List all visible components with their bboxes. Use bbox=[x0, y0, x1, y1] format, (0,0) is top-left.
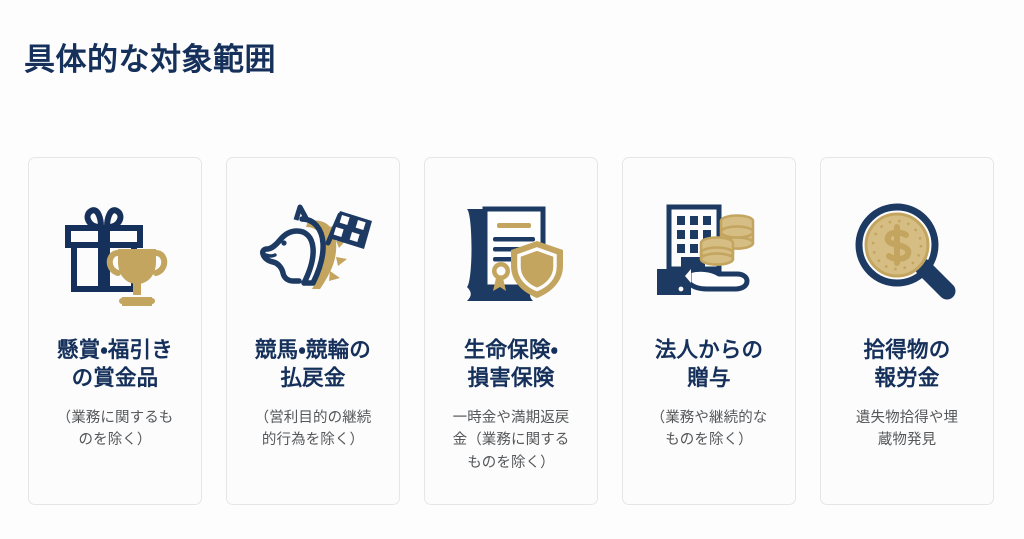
card-title: 競馬・競輪の 払戻金 bbox=[255, 336, 371, 393]
card-title: 拾得物の 報労金 bbox=[864, 336, 951, 393]
certificate-shield-icon bbox=[451, 190, 571, 316]
magnifier-coin-icon bbox=[847, 190, 967, 316]
card-subtitle: （業務や継続的な ものを除く） bbox=[651, 407, 768, 452]
gift-trophy-icon bbox=[55, 190, 175, 316]
card-insurance[interactable]: 生命保険・ 損害保険 一時金や満期返戻 金（業務に関する ものを除く） bbox=[424, 157, 598, 505]
card-corporate-gift[interactable]: 法人からの 贈与 （業務や継続的な ものを除く） bbox=[622, 157, 796, 505]
card-title: 生命保険・ 損害保険 bbox=[464, 336, 558, 393]
card-row: 懸賞・福引き の賞金品 （業務に関するも のを除く） bbox=[28, 157, 996, 505]
building-coins-hand-icon bbox=[649, 190, 769, 316]
card-found-property-reward[interactable]: 拾得物の 報労金 遺失物拾得や埋 蔵物発見 bbox=[820, 157, 994, 505]
card-subtitle: 遺失物拾得や埋 蔵物発見 bbox=[856, 407, 958, 452]
card-subtitle: （業務に関するも のを除く） bbox=[57, 407, 174, 452]
card-subtitle: （営利目的の継続 的行為を除く） bbox=[255, 407, 372, 452]
page-title: 具体的な対象範囲 bbox=[24, 41, 276, 80]
card-subtitle: 一時金や満期返戻 金（業務に関する ものを除く） bbox=[453, 407, 570, 474]
page-root: 具体的な対象範囲 bbox=[0, 0, 1024, 539]
horse-checkered-flag-icon bbox=[253, 190, 373, 316]
card-title: 法人からの 贈与 bbox=[655, 336, 764, 393]
card-title: 懸賞・福引き の賞金品 bbox=[57, 336, 173, 393]
card-prize-winnings[interactable]: 懸賞・福引き の賞金品 （業務に関するも のを除く） bbox=[28, 157, 202, 505]
card-horse-bicycle-racing[interactable]: 競馬・競輪の 払戻金 （営利目的の継続 的行為を除く） bbox=[226, 157, 400, 505]
